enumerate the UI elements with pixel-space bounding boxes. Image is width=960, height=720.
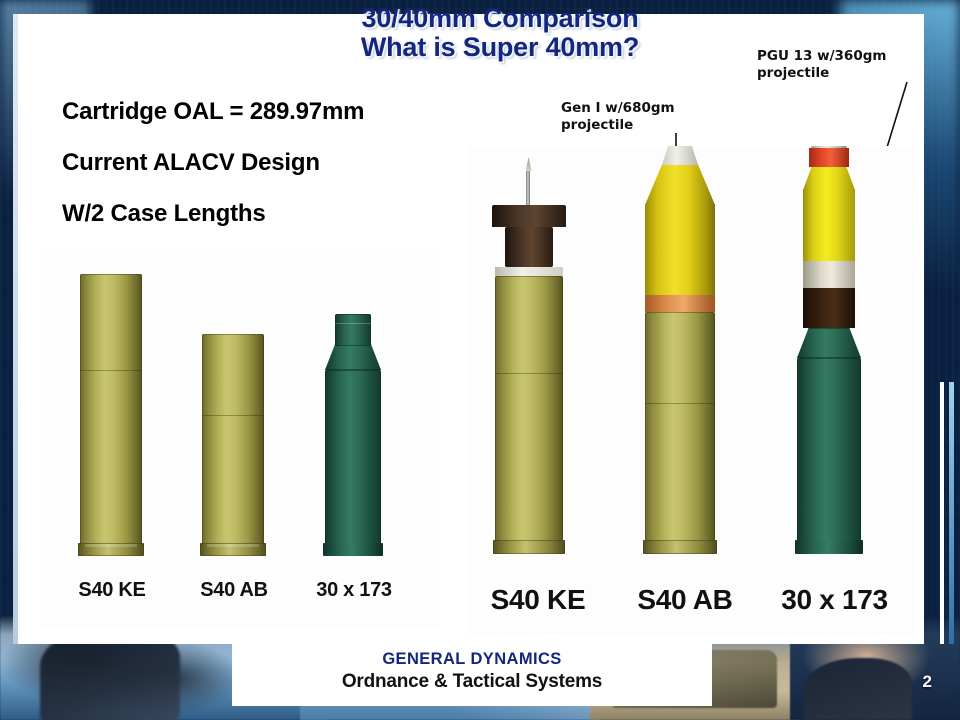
- photo-loaded-cartridges: S40 KE S40 AB 30 x 173: [467, 146, 917, 636]
- footer-company-name: GENERAL DYNAMICS: [232, 650, 712, 669]
- photo-left-label-2: 30 x 173: [294, 579, 414, 602]
- footer-logo-box: GENERAL DYNAMICS Ordnance & Tactical Sys…: [232, 644, 712, 706]
- bullet-item-oal: Cartridge OAL = 289.97mm: [62, 98, 492, 126]
- annotation-gen1-line1: Gen I w/680gm: [561, 100, 721, 117]
- annotation-gen1: Gen I w/680gm projectile: [561, 100, 721, 134]
- annotation-pgu13: PGU 13 w/360gm projectile: [757, 48, 927, 82]
- footer-division-name: Ordnance & Tactical Systems: [232, 671, 712, 693]
- photo-left-label-0: S40 KE: [62, 579, 162, 602]
- title-line-1: 30/40mm Comparison: [300, 4, 700, 33]
- photo-right-label-0: S40 KE: [473, 584, 603, 616]
- annotation-pgu13-line1: PGU 13 w/360gm: [757, 48, 927, 65]
- photo-left-label-1: S40 AB: [184, 579, 284, 602]
- annotation-gen1-line2: projectile: [561, 117, 721, 134]
- case-s40-ab: [202, 334, 264, 556]
- page-title: 30/40mm Comparison What is Super 40mm?: [300, 4, 700, 62]
- right-accent-bar-blue: [949, 382, 954, 644]
- round-s40-ke: [495, 184, 563, 554]
- bullet-item-case-lengths: W/2 Case Lengths: [62, 200, 492, 228]
- annotation-pgu13-line2: projectile: [757, 65, 927, 82]
- photo-right-label-1: S40 AB: [615, 584, 755, 616]
- round-s40-ab: [645, 156, 715, 554]
- case-s40-ke: [80, 274, 142, 556]
- right-accent-bar-white: [940, 382, 944, 644]
- slide-root: 30/40mm Comparison What is Super 40mm? C…: [0, 0, 960, 720]
- photo-cartridge-cases: S40 KE S40 AB 30 x 173: [40, 248, 440, 630]
- title-line-2: What is Super 40mm?: [300, 33, 700, 62]
- bullet-item-design: Current ALACV Design: [62, 149, 492, 177]
- case-30x173: [325, 314, 381, 556]
- photo-right-label-2: 30 x 173: [757, 584, 912, 616]
- bullet-list: Cartridge OAL = 289.97mm Current ALACV D…: [62, 98, 492, 251]
- round-30x173: [797, 162, 861, 554]
- slide-number: 2: [923, 672, 932, 692]
